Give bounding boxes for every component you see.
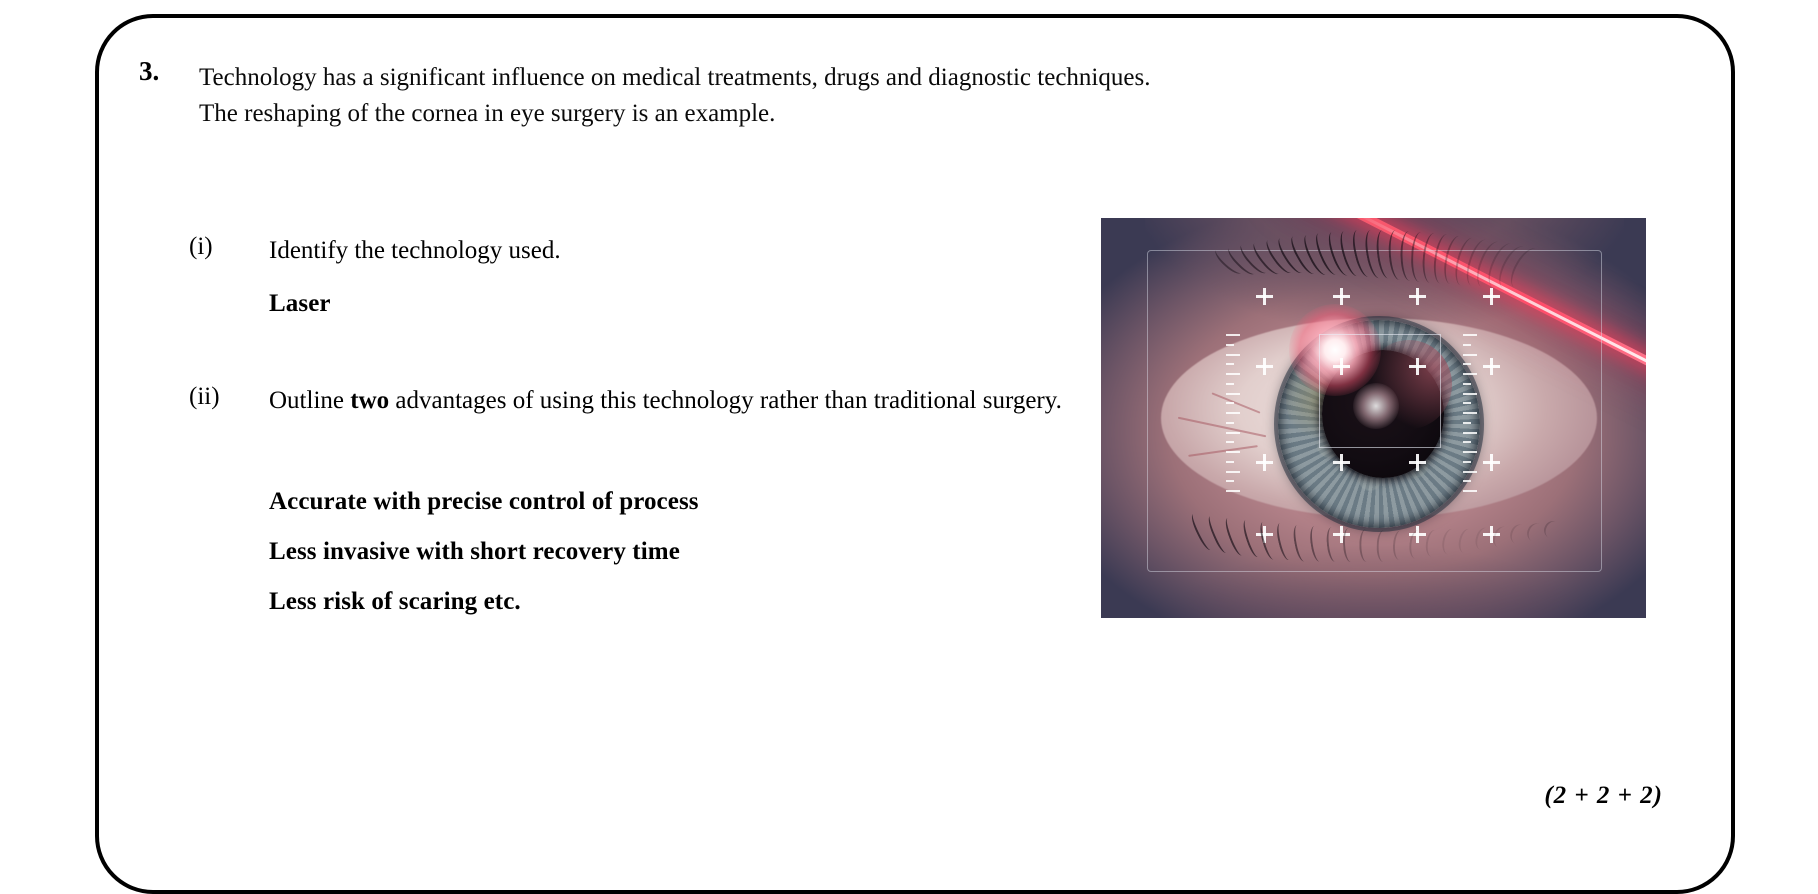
targeting-crosshair: [1483, 288, 1500, 305]
eyelash: [1461, 237, 1495, 289]
upper-eyelid-shadow: [1145, 218, 1625, 386]
sclera: [1161, 318, 1597, 518]
eyelash: [1224, 243, 1258, 277]
iris: [1278, 320, 1480, 528]
eyelash: [1507, 522, 1530, 547]
targeting-crosshair: [1409, 526, 1426, 543]
targeting-crosshair: [1483, 526, 1500, 543]
marks-allocation: (2 + 2 + 2): [1544, 782, 1663, 810]
eyelash: [1223, 516, 1247, 557]
eyelash: [1237, 241, 1271, 277]
eyelash: [1490, 524, 1513, 550]
question-card: 3. Technology has a significant influenc…: [95, 14, 1735, 894]
ruler-tick: [1463, 334, 1477, 336]
eyelash: [1376, 529, 1391, 561]
ruler-tick: [1226, 432, 1240, 434]
eyelash: [1349, 228, 1376, 278]
ruler-tick: [1226, 412, 1240, 414]
targeting-crosshair: [1483, 358, 1500, 375]
eyelash: [1457, 527, 1478, 555]
ruler-tick: [1463, 490, 1477, 492]
targeting-frame: [1147, 250, 1601, 572]
answer-part-ii-1: Accurate with precise control of process: [269, 488, 699, 516]
sclera-vein: [1178, 417, 1266, 438]
targeting-crosshair: [1256, 526, 1273, 543]
targeting-crosshair: [1333, 288, 1350, 305]
part-i-label: (i): [189, 233, 213, 261]
targeting-crosshair: [1409, 358, 1426, 375]
eyelash: [1524, 520, 1548, 544]
part-ii-text-before: Outline: [269, 387, 350, 414]
eyelash: [1408, 529, 1426, 559]
eyelash: [1337, 229, 1366, 279]
eyelash: [1505, 244, 1546, 294]
ruler-tick: [1463, 383, 1471, 385]
ruler-tick: [1226, 441, 1234, 443]
ruler-tick: [1226, 334, 1240, 336]
eyelash: [1431, 233, 1457, 285]
eyelash: [1291, 524, 1310, 563]
ruler-tick: [1226, 451, 1240, 453]
sclera-vein: [1188, 445, 1258, 457]
ruler-tick: [1463, 363, 1471, 365]
question-number: 3.: [139, 58, 159, 85]
targeting-crosshair: [1256, 454, 1273, 471]
stem-line-1: Technology has a significant influence o…: [199, 60, 1150, 96]
ruler-tick: [1463, 373, 1477, 375]
ruler-tick: [1463, 480, 1471, 482]
eyelash: [1274, 235, 1308, 277]
eyelash: [1374, 229, 1397, 280]
eyelash: [1274, 522, 1295, 562]
ruler-tick: [1226, 344, 1234, 346]
eyelash: [1473, 525, 1495, 552]
ruler-tick: [1226, 363, 1234, 365]
targeting-crosshair: [1256, 288, 1273, 305]
ruler-tick: [1463, 432, 1477, 434]
answer-part-i-1: Laser: [269, 290, 331, 318]
pupil: [1322, 350, 1445, 478]
eyelash: [1440, 528, 1460, 557]
ruler-tick: [1463, 441, 1471, 443]
eyelash: [1541, 518, 1565, 542]
targeting-ruler: [1226, 334, 1240, 494]
ruler-tick: [1463, 412, 1477, 414]
ruler-tick: [1463, 354, 1477, 356]
part-ii-text-after: advantages of using this technology rath…: [389, 387, 1062, 414]
eyelash: [1362, 229, 1387, 280]
targeting-crosshair: [1256, 358, 1273, 375]
figure-backplate: [1101, 218, 1646, 618]
ruler-tick: [1463, 422, 1471, 424]
targeting-crosshair: [1409, 454, 1426, 471]
targeting-ruler: [1463, 334, 1477, 494]
iris-texture: [1290, 332, 1467, 515]
ruler-tick: [1226, 461, 1234, 463]
lower-eyelid-shadow: [1123, 498, 1635, 618]
eyelash: [1324, 229, 1354, 278]
eyelash: [1424, 529, 1443, 558]
question-stem-text: Technology has a significant influence o…: [199, 60, 1150, 132]
ruler-tick: [1226, 422, 1234, 424]
ruler-tick: [1226, 490, 1240, 492]
eyelash: [1308, 525, 1326, 563]
part-ii-text: Outline two advantages of using this tec…: [269, 383, 1099, 419]
part-ii-emphasis: two: [350, 387, 389, 414]
eyelash: [1257, 520, 1279, 560]
eyelash: [1451, 235, 1483, 287]
eyelash: [1494, 242, 1534, 293]
iris-olive-patch: [1286, 353, 1359, 445]
eyelash: [1387, 230, 1408, 281]
eyelash: [1240, 518, 1263, 559]
ruler-tick: [1226, 402, 1234, 404]
targeting-crosshair: [1333, 358, 1350, 375]
part-ii-label: (ii): [189, 383, 220, 411]
ruler-tick: [1226, 480, 1234, 482]
targeting-crosshair: [1483, 454, 1500, 471]
ruler-tick: [1226, 393, 1240, 395]
eyelash: [1189, 512, 1216, 552]
ruler-tick: [1463, 393, 1477, 395]
eyelash: [1359, 529, 1374, 562]
stem-line-2: The reshaping of the cornea in eye surge…: [199, 96, 1150, 132]
targeting-crosshair: [1333, 526, 1350, 543]
eyelash: [1411, 231, 1431, 282]
eye-skin: [1101, 218, 1646, 618]
pupil-glow: [1366, 340, 1452, 430]
ruler-tick: [1463, 461, 1471, 463]
limbus-ring: [1274, 316, 1484, 532]
targeting-crosshair: [1409, 288, 1426, 305]
answer-part-ii-3: Less risk of scaring etc.: [269, 588, 521, 616]
eyelash: [1472, 238, 1508, 290]
ruler-tick: [1463, 402, 1471, 404]
sclera-vein: [1212, 392, 1261, 413]
eye-laser-surgery-image: [1101, 218, 1646, 618]
ruler-tick: [1463, 451, 1477, 453]
laser-beam: [1295, 218, 1646, 414]
part-i-text: Identify the technology used.: [269, 233, 1099, 269]
ruler-tick: [1226, 383, 1234, 385]
eyelash: [1483, 240, 1521, 291]
eyelash: [1421, 232, 1444, 283]
eyelash: [1212, 246, 1245, 278]
ruler-tick: [1226, 373, 1240, 375]
eyelash: [1325, 527, 1342, 564]
ruler-tick: [1226, 354, 1240, 356]
ruler-tick: [1463, 471, 1477, 473]
eyelash: [1400, 231, 1419, 281]
targeting-inner-square: [1319, 334, 1441, 448]
eyelash: [1299, 231, 1332, 277]
eyelash: [1441, 234, 1470, 286]
eyelash: [1262, 237, 1296, 277]
eyelash: [1249, 239, 1283, 277]
eyelash: [1342, 528, 1358, 563]
eyelash: [1392, 529, 1408, 560]
eyelash: [1287, 233, 1320, 277]
eyelash: [1312, 230, 1344, 277]
eyelash: [1206, 514, 1231, 555]
laser-impact-hotspot: [1289, 304, 1381, 396]
ruler-tick: [1463, 344, 1471, 346]
laser-secondary-flare: [1353, 383, 1399, 429]
laser-beam-core: [1295, 218, 1646, 411]
ruler-tick: [1226, 471, 1240, 473]
targeting-crosshair: [1333, 454, 1350, 471]
answer-part-ii-2: Less invasive with short recovery time: [269, 538, 680, 566]
